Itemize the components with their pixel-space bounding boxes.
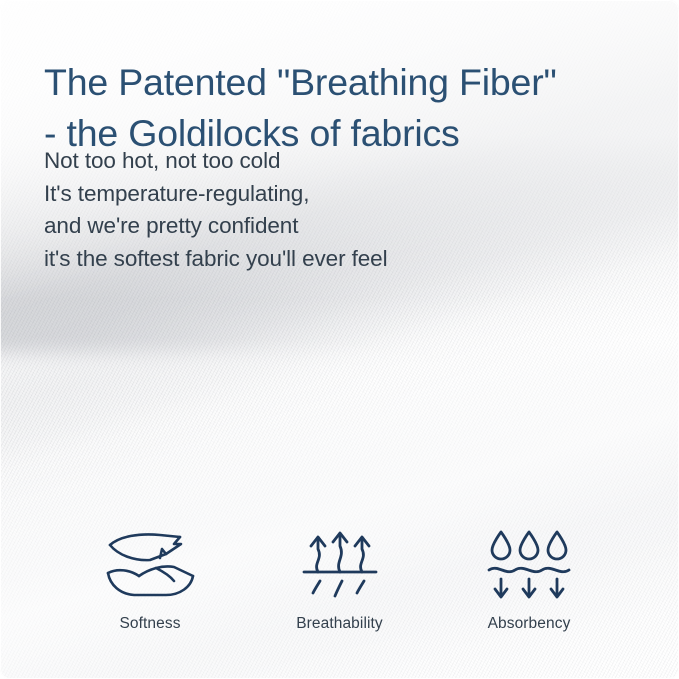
headline: The Patented "Breathing Fiber" - the Gol… [44, 57, 654, 159]
banner-content: The Patented "Breathing Fiber" - the Gol… [0, 0, 679, 679]
water-droplets-absorbing-icon [486, 528, 572, 600]
water-droplets-absorbency-wrapper: Absorbency [439, 528, 619, 633]
subcopy-line-3: and we're pretty confident [44, 210, 604, 243]
feature-row: Softness [60, 528, 619, 633]
product-feature-banner: The Patented "Breathing Fiber" - the Gol… [0, 0, 679, 679]
subcopy: Not too hot, not too cold It's temperatu… [44, 145, 604, 275]
feather-on-hand-icon [104, 528, 196, 600]
rising-air-arrows-icon [302, 528, 378, 600]
feature-label-softness: Softness [119, 614, 180, 633]
headline-line-1: The Patented "Breathing Fiber" [44, 57, 654, 108]
feature-breathability: Breathability [250, 528, 430, 633]
feature-label-breathability: Breathability [296, 614, 383, 633]
feature-softness: Softness [60, 528, 240, 633]
subcopy-line-4: it's the softest fabric you'll ever feel [44, 243, 604, 276]
feature-label-absorbency: Absorbency [488, 614, 571, 633]
subcopy-line-2: It's temperature-regulating, [44, 178, 604, 211]
subcopy-line-1: Not too hot, not too cold [44, 145, 604, 178]
